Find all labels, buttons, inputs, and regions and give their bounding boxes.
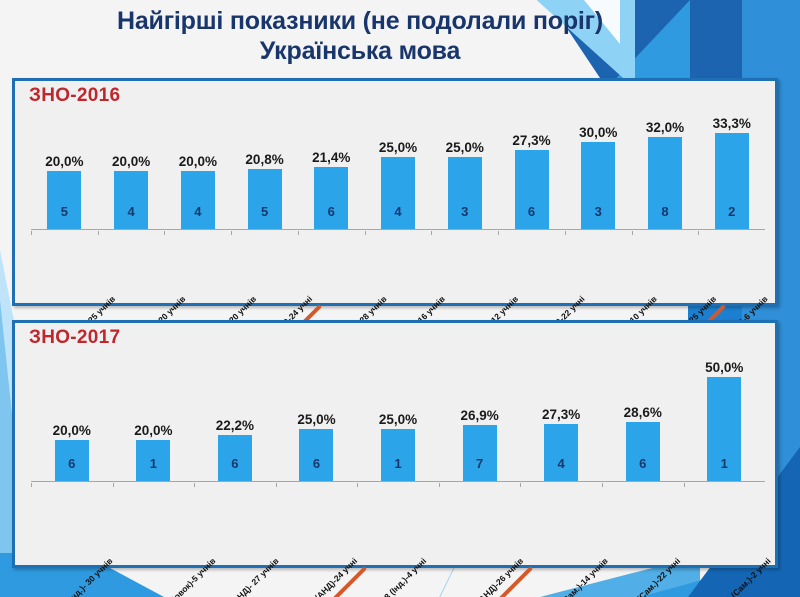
category-label-text: №70 (Сам.)-22 учні — [620, 556, 683, 597]
bar-count-label: 6 — [231, 456, 238, 471]
chart-panel-2017: ЗНО-2017 20,0%620,0%122,2%625,0%625,0%12… — [12, 320, 778, 568]
bar: 7 — [463, 425, 497, 481]
bar-group-2016: 20,0%520,0%420,0%420,8%521,4%625,0%425,0… — [31, 107, 765, 229]
chart-panel-2016: ЗНО-2016 20,0%520,0%420,0%420,8%521,4%62… — [12, 78, 778, 306]
axis-tick — [231, 231, 232, 235]
axis-tick — [602, 483, 603, 487]
category-slot: №114 (АНД)-24 учні — [276, 483, 358, 567]
category-slot: №117(АНД)-25 учнів — [31, 231, 98, 305]
axis-tick — [498, 231, 499, 235]
axis-tick — [98, 231, 99, 235]
bar: 1 — [136, 440, 170, 481]
bar-slot: 20,0%4 — [164, 107, 231, 229]
x-axis-2017 — [31, 481, 765, 482]
bar-slot: 22,2%6 — [194, 351, 276, 481]
chart-title-2017: ЗНО-2017 — [29, 327, 120, 349]
category-label: Веч.№4 (Сам.)-2 учні — [700, 552, 774, 597]
category-slot: №102(Чечел)-10 учнів — [565, 231, 632, 305]
bar-percent-label: 20,8% — [245, 152, 283, 167]
bar-slot: 20,0%1 — [113, 351, 195, 481]
bar: 6 — [626, 422, 660, 481]
bar: 1 — [381, 429, 415, 481]
bar-slot: 32,0%8 — [632, 107, 699, 229]
bar: 8 — [648, 137, 682, 229]
category-slot: №65(Чечел)-12 учнів — [431, 231, 498, 305]
bar-group-2017: 20,0%620,0%122,2%625,0%625,0%126,9%727,3… — [31, 351, 765, 481]
axis-tick — [632, 231, 633, 235]
category-label-text: №110 (Сам.)-14 учнів — [541, 556, 610, 597]
axis-tick — [684, 483, 685, 487]
axis-tick — [276, 483, 277, 487]
bar-percent-label: 20,0% — [179, 154, 217, 169]
bar-count-label: 2 — [728, 204, 735, 219]
category-label-text: №116(АНД)-26 учнів — [458, 556, 525, 597]
axis-tick — [298, 231, 299, 235]
bar: 4 — [544, 424, 578, 481]
slide-title-line2: Українська мова — [0, 36, 720, 66]
bar-slot: 21,4%6 — [298, 107, 365, 229]
axis-tick — [194, 483, 195, 487]
category-label: №116(АНД)-26 учнів — [455, 552, 527, 597]
category-label-text: №38 (Інд.)-4 учні — [372, 556, 428, 597]
bar-percent-label: 27,3% — [512, 133, 550, 148]
bar-count-label: 4 — [194, 204, 201, 219]
bar-count-label: 7 — [476, 456, 483, 471]
bar-percent-label: 20,0% — [45, 154, 83, 169]
bar-slot: 28,6%6 — [602, 351, 684, 481]
category-label-text: №114 (АНД)-24 учні — [294, 556, 359, 597]
bar: 6 — [515, 150, 549, 229]
bar-slot: 27,3%4 — [520, 351, 602, 481]
bar-percent-label: 20,0% — [112, 154, 150, 169]
category-labels-2017: №63 (Інд.)- 30 учнівВеч.№11 (Новок)-5 уч… — [31, 483, 765, 567]
category-slot: Веч.№4 (Сам.)-2 учні — [684, 483, 766, 567]
bar-percent-label: 25,0% — [379, 140, 417, 155]
bar-count-label: 6 — [68, 456, 75, 471]
axis-tick — [365, 231, 366, 235]
bar-slot: 25,0%1 — [357, 351, 439, 481]
axis-tick — [520, 483, 521, 487]
axis-tick — [164, 231, 165, 235]
bar-slot: 30,0%3 — [565, 107, 632, 229]
category-label: №114 (АНД)-24 учні — [291, 552, 361, 597]
bar-slot: 20,0%4 — [98, 107, 165, 229]
category-slot: №24(Самар)-28 учнів — [298, 231, 365, 305]
bar-percent-label: 20,0% — [53, 423, 91, 438]
bar-count-label: 6 — [328, 204, 335, 219]
bar-count-label: 3 — [595, 204, 602, 219]
bar-slot: 20,0%6 — [31, 351, 113, 481]
axis-tick — [31, 483, 32, 487]
bar-percent-label: 25,0% — [379, 412, 417, 427]
bar-slot: 20,8%5 — [231, 107, 298, 229]
chart-title-2016: ЗНО-2016 — [29, 85, 120, 107]
x-axis-2016 — [31, 229, 765, 230]
axis-tick — [439, 483, 440, 487]
bar-count-label: 5 — [61, 204, 68, 219]
category-label-text: №18 (АНД)- 27 учнів — [214, 556, 281, 597]
bar-count-label: 8 — [661, 204, 668, 219]
bar-slot: 25,0%6 — [276, 351, 358, 481]
bar-count-label: 1 — [150, 456, 157, 471]
bar: 6 — [55, 440, 89, 481]
bar: 5 — [47, 171, 81, 229]
category-slot: №110 (Сам.)-14 учнів — [520, 483, 602, 567]
category-slot: №116(АНД)-26 учнів — [439, 483, 521, 567]
category-slot: №114 (АНД)-24 учні — [231, 231, 298, 305]
category-label: №38 (Інд.)-4 учні — [369, 552, 431, 597]
bar: 3 — [581, 142, 615, 229]
bar-slot: 27,3%6 — [498, 107, 565, 229]
bar-percent-label: 33,3% — [713, 116, 751, 131]
bar-percent-label: 30,0% — [579, 125, 617, 140]
bar-slot: 50,0%1 — [684, 351, 766, 481]
bar-percent-label: 25,0% — [297, 412, 335, 427]
bar: 4 — [381, 157, 415, 229]
category-slot: №116(АНД)-25 учнів — [632, 231, 699, 305]
bar-count-label: 3 — [461, 204, 468, 219]
bar-count-label: 4 — [127, 204, 134, 219]
category-labels-2016: №117(АНД)-25 учнів№59(Новок)-20 учнів№10… — [31, 231, 765, 305]
bar-slot: 25,0%3 — [431, 107, 498, 229]
bar-count-label: 6 — [528, 204, 535, 219]
category-slot: №38 (Інд.)-4 учні — [357, 483, 439, 567]
bar: 5 — [248, 169, 282, 229]
bar-count-label: 6 — [639, 456, 646, 471]
bar-count-label: 4 — [394, 204, 401, 219]
bar-slot: 33,3%2 — [698, 107, 765, 229]
bar-percent-label: 20,0% — [134, 423, 172, 438]
slide-title-line1: Найгірші показники (не подолали поріг) — [117, 7, 603, 35]
category-slot: №63 (Інд.)- 30 учнів — [31, 483, 113, 567]
bar: 1 — [707, 377, 741, 481]
axis-tick — [565, 231, 566, 235]
bar-percent-label: 21,4% — [312, 150, 350, 165]
axis-tick — [431, 231, 432, 235]
category-label: №70 (Сам.)-22 учні — [616, 552, 684, 597]
category-slot: №38(Інд)-6 учнів — [698, 231, 765, 305]
slide-title: Найгірші показники (не подолали поріг) У… — [0, 6, 720, 66]
category-slot: №144(Центр)-22 учні — [498, 231, 565, 305]
bar-percent-label: 22,2% — [216, 418, 254, 433]
category-slot: №105(Новок)-20 учнів — [164, 231, 231, 305]
bar-count-label: 6 — [313, 456, 320, 471]
bar-percent-label: 32,0% — [646, 120, 684, 135]
category-slot: №59(Новок)-20 учнів — [98, 231, 165, 305]
bar-percent-label: 28,6% — [624, 405, 662, 420]
bar: 2 — [715, 133, 749, 229]
bar-percent-label: 50,0% — [705, 360, 743, 375]
bar: 4 — [181, 171, 215, 229]
bar: 6 — [314, 167, 348, 229]
axis-tick — [357, 483, 358, 487]
axis-tick — [113, 483, 114, 487]
bar: 6 — [218, 435, 252, 481]
axis-tick — [31, 231, 32, 235]
bar: 4 — [114, 171, 148, 229]
category-slot: Веч.№11 (Новок)-5 учнів — [113, 483, 195, 567]
bar: 6 — [299, 429, 333, 481]
bar-count-label: 1 — [721, 456, 728, 471]
category-slot: №18 (АНД)- 27 учнів — [194, 483, 276, 567]
category-label: №18 (АНД)- 27 учнів — [210, 552, 283, 597]
bar: 3 — [448, 157, 482, 229]
category-label-text: №63 (Інд.)- 30 учнів — [50, 556, 115, 597]
category-slot: №70 (Сам.)-22 учні — [602, 483, 684, 567]
category-label-text: Веч.№4 (Сам.)-2 учні — [704, 556, 773, 597]
bar-count-label: 1 — [394, 456, 401, 471]
bar-count-label: 4 — [558, 456, 565, 471]
bar-percent-label: 27,3% — [542, 407, 580, 422]
bar-percent-label: 26,9% — [460, 408, 498, 423]
bar-slot: 26,9%7 — [439, 351, 521, 481]
bar-slot: 20,0%5 — [31, 107, 98, 229]
category-label: №63 (Інд.)- 30 учнів — [46, 552, 116, 597]
slide-canvas: Найгірші показники (не подолали поріг) У… — [0, 0, 800, 597]
category-slot: №56(АНД)-16 учнів — [365, 231, 432, 305]
bar-count-label: 5 — [261, 204, 268, 219]
bar-percent-label: 25,0% — [446, 140, 484, 155]
bar-slot: 25,0%4 — [365, 107, 432, 229]
axis-tick — [698, 231, 699, 235]
